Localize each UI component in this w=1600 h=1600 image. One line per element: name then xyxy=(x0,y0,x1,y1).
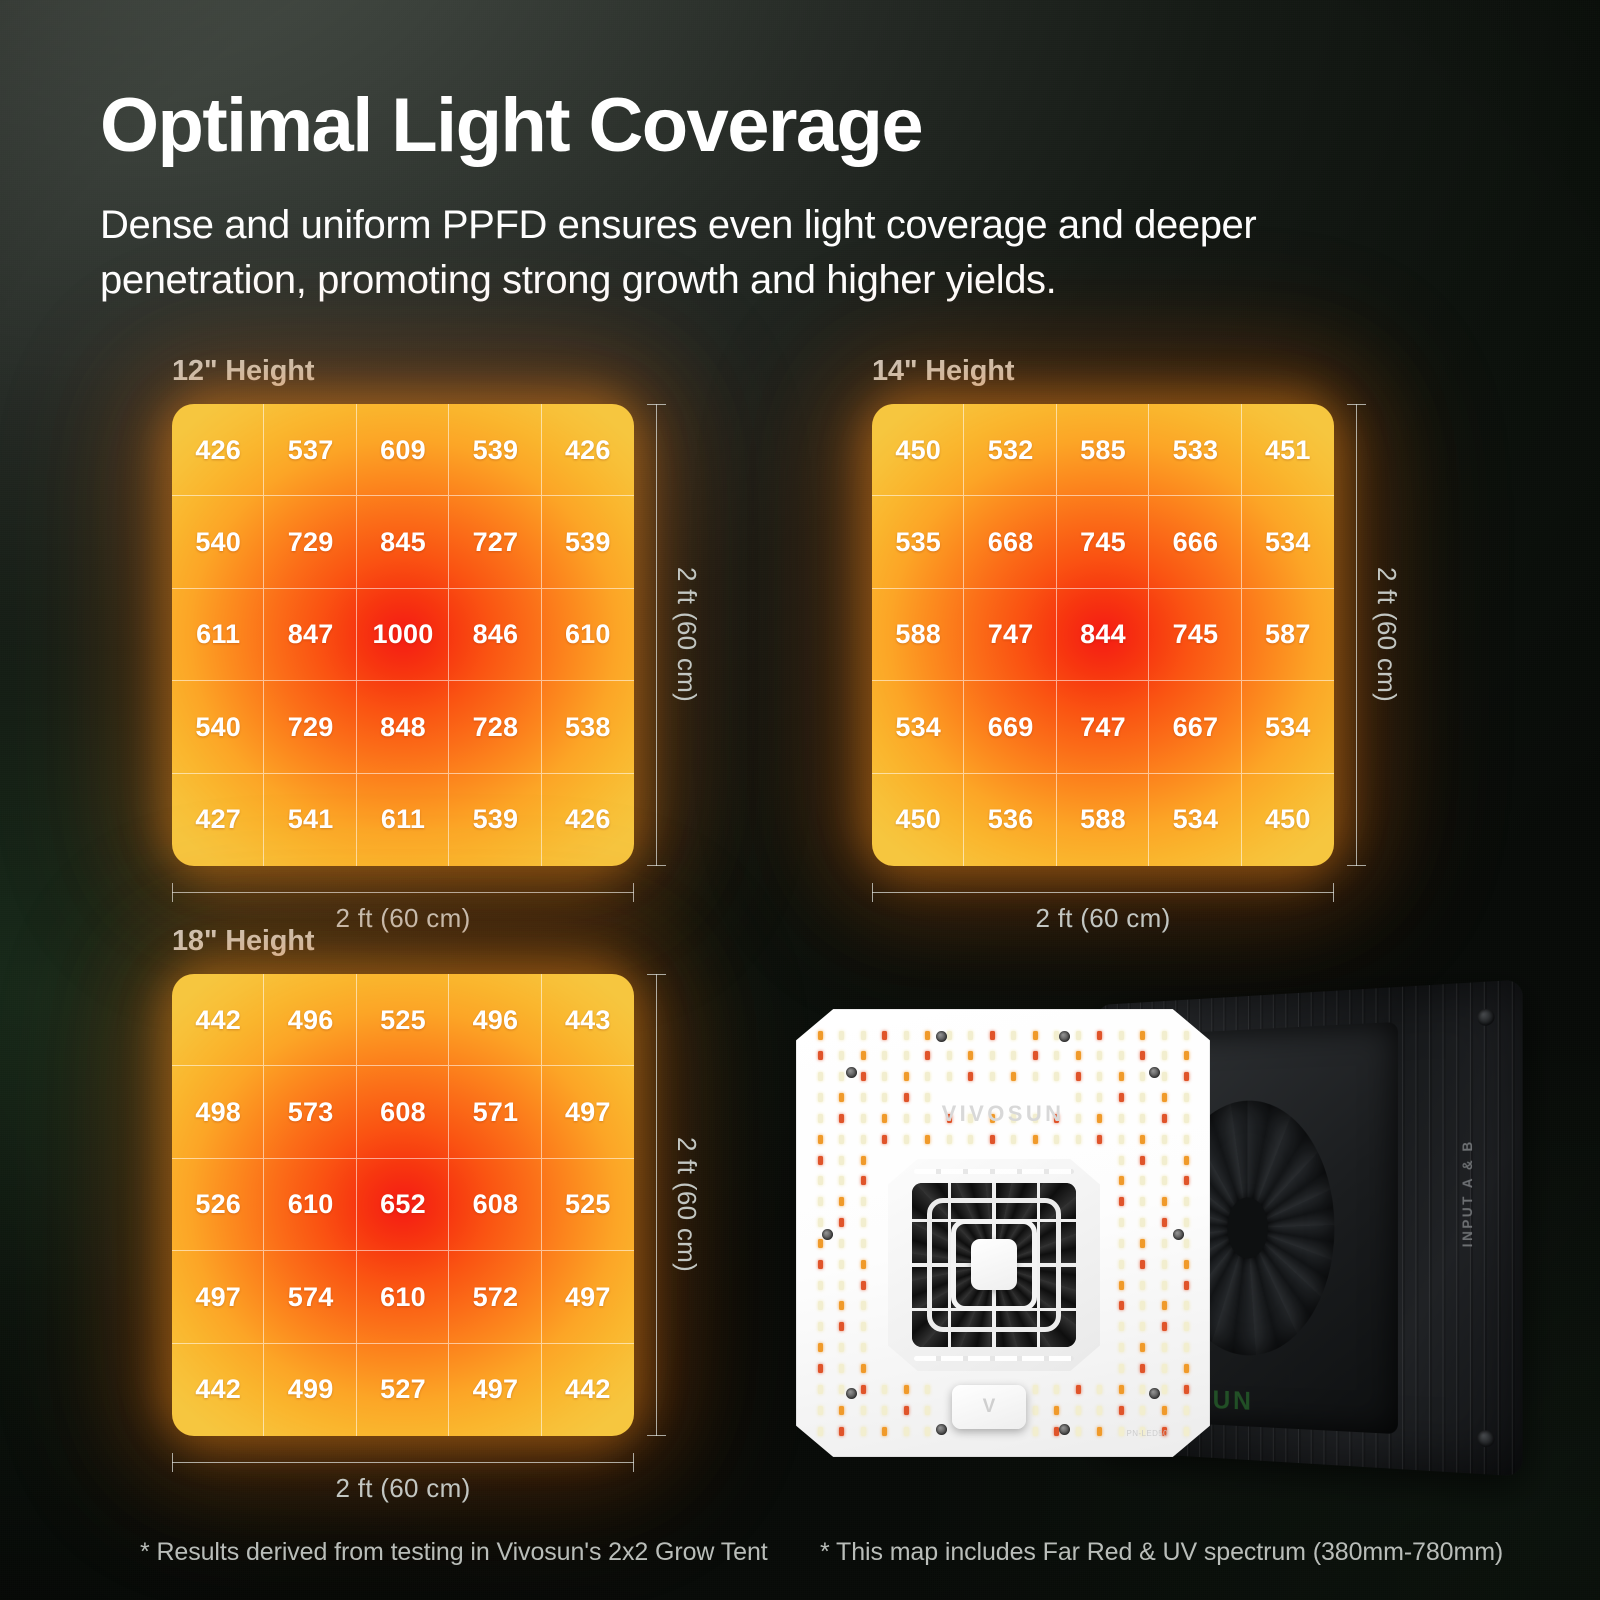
led-diode xyxy=(1033,1406,1038,1415)
heatmap-cell-value: 450 xyxy=(895,435,941,466)
led-diode xyxy=(968,1135,973,1144)
heatmap-cell: 499 xyxy=(264,1344,356,1436)
led-diode xyxy=(818,1239,823,1248)
heatmap-cell-value: 652 xyxy=(380,1189,426,1220)
led-diode xyxy=(1097,1406,1102,1415)
led-diode xyxy=(839,1197,844,1206)
dimension-horizontal-label: 2 ft (60 cm) xyxy=(172,1473,634,1504)
led-diode xyxy=(861,1260,866,1269)
dimension-vertical-label: 2 ft (60 cm) xyxy=(671,1137,702,1272)
heatmap-cell: 442 xyxy=(542,1344,634,1436)
fan-grille xyxy=(912,1183,1076,1347)
heatmap-cell-value: 427 xyxy=(195,804,241,835)
led-diode xyxy=(861,1072,866,1081)
led-diode xyxy=(818,1364,823,1373)
heatmap-cell: 533 xyxy=(1149,404,1241,496)
heatmap-cell-value: 845 xyxy=(380,527,426,558)
led-diode xyxy=(904,1072,909,1081)
led-diode xyxy=(1162,1301,1167,1310)
led-diode xyxy=(1162,1385,1167,1394)
led-diode xyxy=(839,1156,844,1165)
heatmap-cell: 426 xyxy=(542,774,634,866)
heatmap-cell: 536 xyxy=(964,774,1056,866)
heatmap-cell-value: 846 xyxy=(473,619,519,650)
led-diode xyxy=(1097,1385,1102,1394)
led-diode xyxy=(839,1406,844,1415)
heatmap-cell: 608 xyxy=(357,1066,449,1158)
heatmap-cell: 497 xyxy=(542,1251,634,1343)
heatmap-cell-value: 537 xyxy=(288,435,334,466)
led-diode xyxy=(1119,1260,1124,1269)
heatmap-cell-value: 747 xyxy=(988,619,1034,650)
led-diode xyxy=(1119,1031,1124,1040)
led-diode xyxy=(1162,1197,1167,1206)
led-diode xyxy=(1184,1176,1189,1185)
led-diode xyxy=(1140,1281,1145,1290)
led-diode xyxy=(1140,1364,1145,1373)
dimension-horizontal-label: 2 ft (60 cm) xyxy=(872,903,1334,934)
led-diode xyxy=(1184,1322,1189,1331)
dimension-vertical: 2 ft (60 cm) xyxy=(656,404,702,866)
heatmap-cell-value: 451 xyxy=(1265,435,1311,466)
heatmap-cell: 728 xyxy=(449,681,541,773)
heatmap-cell: 587 xyxy=(1242,589,1334,681)
heatmap-cell: 450 xyxy=(872,774,964,866)
led-diode xyxy=(882,1031,887,1040)
heatmap-title: 14" Height xyxy=(872,355,1334,388)
heatmap-grid: 4424965254964434985736085714975266106526… xyxy=(172,974,634,1436)
led-diode xyxy=(1033,1031,1038,1040)
heatmap-cell-value: 536 xyxy=(988,804,1034,835)
screw-icon xyxy=(1173,1229,1184,1240)
led-diode xyxy=(1119,1343,1124,1352)
heatmap-cell: 497 xyxy=(172,1251,264,1343)
heatmap-cell-value: 666 xyxy=(1173,527,1219,558)
heatmap-cell-value: 745 xyxy=(1080,527,1126,558)
dimension-rule xyxy=(656,404,657,866)
led-diode xyxy=(1140,1239,1145,1248)
heatmap-cell: 526 xyxy=(172,1159,264,1251)
led-diode xyxy=(839,1051,844,1060)
heatmap-cell: 666 xyxy=(1149,496,1241,588)
heatmap-cell: 846 xyxy=(449,589,541,681)
led-diode xyxy=(861,1364,866,1373)
heatmap-cell: 611 xyxy=(357,774,449,866)
led-diode xyxy=(925,1427,930,1436)
led-diode xyxy=(1011,1135,1016,1144)
led-diode xyxy=(1054,1072,1059,1081)
led-diode xyxy=(925,1385,930,1394)
footnote-right: * This map includes Far Red & UV spectru… xyxy=(820,1538,1503,1567)
led-diode xyxy=(861,1406,866,1415)
led-diode xyxy=(1140,1156,1145,1165)
heatmap-cell: 668 xyxy=(964,496,1056,588)
heatmap-cell: 729 xyxy=(264,681,356,773)
heatmap-cell-value: 527 xyxy=(380,1374,426,1405)
led-diode xyxy=(1119,1197,1124,1206)
led-diode xyxy=(1076,1135,1081,1144)
led-diode xyxy=(861,1343,866,1352)
fan-housing xyxy=(888,1159,1100,1371)
heatmap-cell: 652 xyxy=(357,1159,449,1251)
led-diode xyxy=(839,1260,844,1269)
led-diode xyxy=(1119,1385,1124,1394)
led-diode xyxy=(1184,1156,1189,1165)
led-diode xyxy=(861,1135,866,1144)
heatmap-panel-3: 18" Height442496525496443498573608571497… xyxy=(172,925,634,1436)
heatmap-cell-value: 442 xyxy=(565,1374,611,1405)
brand-button-chip[interactable]: V xyxy=(952,1385,1026,1429)
led-diode xyxy=(1140,1176,1145,1185)
led-diode xyxy=(947,1072,952,1081)
dimension-rule xyxy=(1356,404,1357,866)
heatmap-cell-value: 534 xyxy=(1265,712,1311,743)
led-diode xyxy=(1162,1364,1167,1373)
led-diode xyxy=(861,1301,866,1310)
page-title: Optimal Light Coverage xyxy=(100,88,1520,164)
led-diode xyxy=(1097,1072,1102,1081)
led-diode xyxy=(1076,1385,1081,1394)
led-diode xyxy=(839,1364,844,1373)
heatmap-cell-value: 587 xyxy=(1265,619,1311,650)
heatmap-cell-value: 611 xyxy=(381,804,425,835)
led-diode xyxy=(1076,1427,1081,1436)
heatmap-cell: 745 xyxy=(1057,496,1149,588)
heatmap-cell: 540 xyxy=(172,496,264,588)
led-diode xyxy=(1011,1051,1016,1060)
led-diode xyxy=(968,1072,973,1081)
led-diode xyxy=(861,1031,866,1040)
led-diode xyxy=(925,1072,930,1081)
led-diode xyxy=(1184,1301,1189,1310)
led-diode xyxy=(839,1031,844,1040)
led-diode xyxy=(818,1135,823,1144)
heatmap-cell: 525 xyxy=(542,1159,634,1251)
led-diode xyxy=(818,1260,823,1269)
product-image: INPUT A & B VIVOSUN VIVOSUN xyxy=(790,975,1520,1475)
heatmap-cell-value: 747 xyxy=(1080,712,1126,743)
led-diode xyxy=(1054,1406,1059,1415)
heatmap-cell: 610 xyxy=(264,1159,356,1251)
screw-icon xyxy=(1149,1067,1160,1078)
led-diode xyxy=(1076,1051,1081,1060)
led-diode xyxy=(1097,1031,1102,1040)
led-diode xyxy=(1184,1343,1189,1352)
heatmap-cell: 527 xyxy=(357,1344,449,1436)
heatmap-cell-value: 426 xyxy=(565,804,611,835)
led-diode xyxy=(1184,1260,1189,1269)
led-diode xyxy=(968,1031,973,1040)
heatmap-cell-value: 426 xyxy=(195,435,241,466)
dimension-vertical: 2 ft (60 cm) xyxy=(656,974,702,1436)
led-diode xyxy=(839,1281,844,1290)
screw-icon xyxy=(1059,1031,1070,1042)
heatmap-cell: 539 xyxy=(449,404,541,496)
heatmap-cell-value: 540 xyxy=(195,712,241,743)
led-diode xyxy=(1033,1427,1038,1436)
led-diode xyxy=(1076,1072,1081,1081)
led-diode xyxy=(818,1197,823,1206)
led-diode xyxy=(1011,1072,1016,1081)
heatmap-cell: 534 xyxy=(872,681,964,773)
dimension-vertical: 2 ft (60 cm) xyxy=(1356,404,1402,866)
heatmap-cell-value: 534 xyxy=(895,712,941,743)
heatmap-cell: 585 xyxy=(1057,404,1149,496)
heatmap-cell: 573 xyxy=(264,1066,356,1158)
led-diode xyxy=(839,1343,844,1352)
dimension-vertical-label: 2 ft (60 cm) xyxy=(671,567,702,702)
heatmap-cell-value: 571 xyxy=(473,1097,519,1128)
heatmap-cell-value: 667 xyxy=(1173,712,1219,743)
screw-icon xyxy=(936,1424,947,1435)
dimension-horizontal: 2 ft (60 cm) xyxy=(872,892,1334,934)
led-diode xyxy=(1119,1364,1124,1373)
led-diode xyxy=(818,1406,823,1415)
led-diode xyxy=(1033,1385,1038,1394)
led-diode xyxy=(882,1406,887,1415)
heatmap-cell-value: 450 xyxy=(1265,804,1311,835)
led-diode xyxy=(1184,1135,1189,1144)
led-diode xyxy=(1184,1406,1189,1415)
led-diode xyxy=(818,1301,823,1310)
heatmap-cell-value: 609 xyxy=(380,435,426,466)
led-diode xyxy=(839,1301,844,1310)
input-label: INPUT A & B xyxy=(1459,1139,1475,1247)
led-diode xyxy=(1119,1406,1124,1415)
heatmap-cell: 848 xyxy=(357,681,449,773)
heatmap-cell: 497 xyxy=(542,1066,634,1158)
heatmap-cell-value: 534 xyxy=(1265,527,1311,558)
heatmap-cell: 609 xyxy=(357,404,449,496)
panel-fine-print: PN-LED50 xyxy=(1127,1429,1168,1439)
heatmap-cell: 844 xyxy=(1057,589,1149,681)
screw-icon xyxy=(846,1067,857,1078)
heatmap-cell-value: 539 xyxy=(473,435,519,466)
heatmap-cell: 574 xyxy=(264,1251,356,1343)
led-diode xyxy=(882,1427,887,1436)
led-diode xyxy=(839,1427,844,1436)
led-diode xyxy=(861,1197,866,1206)
led-diode xyxy=(990,1031,995,1040)
led-diode xyxy=(839,1385,844,1394)
footnote-left: * Results derived from testing in Vivosu… xyxy=(140,1538,768,1567)
led-diode xyxy=(1162,1176,1167,1185)
led-diode xyxy=(861,1385,866,1394)
heatmap-cell-value: 669 xyxy=(988,712,1034,743)
led-diode xyxy=(882,1385,887,1394)
led-diode xyxy=(1054,1051,1059,1060)
led-diode xyxy=(1162,1239,1167,1248)
led-diode xyxy=(1097,1427,1102,1436)
heatmap-cell-value: 497 xyxy=(195,1282,241,1313)
dimension-rule xyxy=(656,974,657,1436)
led-diode xyxy=(1184,1218,1189,1227)
led-diode xyxy=(1140,1385,1145,1394)
brand-button-glyph: V xyxy=(983,1396,996,1418)
led-diode xyxy=(1140,1197,1145,1206)
led-diode xyxy=(1140,1322,1145,1331)
led-diode xyxy=(1162,1406,1167,1415)
heatmap-cell-value: 525 xyxy=(380,1005,426,1036)
heatmap-panel-1: 12" Height426537609539426540729845727539… xyxy=(172,355,634,866)
heatmap-cell: 747 xyxy=(1057,681,1149,773)
heatmap-cell-value: 539 xyxy=(473,804,519,835)
heatmap-cell-value: 729 xyxy=(288,712,334,743)
heatmap-cell: 541 xyxy=(264,774,356,866)
led-diode xyxy=(947,1135,952,1144)
led-diode xyxy=(925,1406,930,1415)
heatmap-cell: 498 xyxy=(172,1066,264,1158)
dimension-rule xyxy=(872,892,1334,893)
led-diode xyxy=(925,1031,930,1040)
heatmap-cell: 451 xyxy=(1242,404,1334,496)
led-diode xyxy=(818,1072,823,1081)
led-diode xyxy=(1140,1051,1145,1060)
led-diode xyxy=(1033,1135,1038,1144)
vent-slot xyxy=(914,1356,1074,1361)
heatmap-cell: 535 xyxy=(872,496,964,588)
header: Optimal Light Coverage Dense and uniform… xyxy=(100,88,1520,308)
led-diode xyxy=(839,1239,844,1248)
led-diode xyxy=(1184,1427,1189,1436)
heatmap-cell: 539 xyxy=(449,774,541,866)
led-diode xyxy=(839,1072,844,1081)
led-diode xyxy=(1140,1135,1145,1144)
heatmap-cell-value: 496 xyxy=(473,1005,519,1036)
led-diode xyxy=(1184,1385,1189,1394)
led-diode xyxy=(1184,1197,1189,1206)
led-diode xyxy=(861,1239,866,1248)
heatmap-cell-value: 574 xyxy=(288,1282,334,1313)
heatmap-cell: 442 xyxy=(172,1344,264,1436)
led-diode xyxy=(818,1385,823,1394)
led-diode xyxy=(1119,1427,1124,1436)
led-diode xyxy=(1184,1364,1189,1373)
heatmap-cell-value: 442 xyxy=(195,1005,241,1036)
heatmap-cell-value: 526 xyxy=(195,1189,241,1220)
heatmap-title: 12" Height xyxy=(172,355,634,388)
heatmap-grid: 4265376095394265407298457275396118471000… xyxy=(172,404,634,866)
led-diode xyxy=(1162,1135,1167,1144)
screw-icon xyxy=(936,1031,947,1042)
heatmap-cell: 729 xyxy=(264,496,356,588)
led-diode xyxy=(1119,1322,1124,1331)
heatmap-cell-value: 1000 xyxy=(373,619,434,650)
heatmap-cell: 588 xyxy=(872,589,964,681)
led-diode xyxy=(861,1427,866,1436)
heatmap-cell: 443 xyxy=(542,974,634,1066)
screw-icon xyxy=(846,1388,857,1399)
led-diode xyxy=(1076,1031,1081,1040)
led-diode xyxy=(1054,1385,1059,1394)
heatmap-cell-value: 588 xyxy=(1080,804,1126,835)
led-diode xyxy=(1119,1135,1124,1144)
led-diode xyxy=(1162,1343,1167,1352)
led-diode xyxy=(882,1135,887,1144)
led-diode xyxy=(861,1322,866,1331)
led-panel-front: VIVOSUN V xyxy=(796,1009,1210,1457)
heatmap-cell-value: 535 xyxy=(895,527,941,558)
dimension-rule xyxy=(172,892,634,893)
led-diode xyxy=(861,1176,866,1185)
led-diode xyxy=(1162,1322,1167,1331)
heatmap-cell-value: 848 xyxy=(380,712,426,743)
led-diode xyxy=(1140,1072,1145,1081)
heatmap-cell: 845 xyxy=(357,496,449,588)
led-diode xyxy=(861,1281,866,1290)
heatmap-cell-value: 847 xyxy=(288,619,334,650)
led-diode xyxy=(1184,1281,1189,1290)
led-diode xyxy=(839,1218,844,1227)
heatmap-cell-value: 668 xyxy=(988,527,1034,558)
heatmap-panel-2: 14" Height450532585533451535668745666534… xyxy=(872,355,1334,866)
led-diode xyxy=(861,1051,866,1060)
heatmap-cell: 426 xyxy=(172,404,264,496)
heatmap-cell: 608 xyxy=(449,1159,541,1251)
heatmap-cell: 540 xyxy=(172,681,264,773)
led-diode xyxy=(818,1322,823,1331)
led-diode xyxy=(861,1156,866,1165)
dimension-vertical-label: 2 ft (60 cm) xyxy=(1371,567,1402,702)
led-diode xyxy=(861,1218,866,1227)
heatmap-cell: 669 xyxy=(964,681,1056,773)
led-diode xyxy=(1162,1281,1167,1290)
panel-brand-logo: VIVOSUN xyxy=(796,1101,1210,1127)
led-diode xyxy=(1140,1406,1145,1415)
led-diode xyxy=(947,1031,952,1040)
led-diode xyxy=(1184,1031,1189,1040)
heatmap-cell: 610 xyxy=(357,1251,449,1343)
heatmap-cell: 532 xyxy=(964,404,1056,496)
led-diode xyxy=(1184,1072,1189,1081)
heatmap-cell-value: 572 xyxy=(473,1282,519,1313)
led-diode xyxy=(1184,1051,1189,1060)
led-diode xyxy=(1140,1301,1145,1310)
led-diode xyxy=(839,1322,844,1331)
heatmap-cell-value: 610 xyxy=(380,1282,426,1313)
heatmap-cell-value: 610 xyxy=(565,619,611,650)
heatmap-cell-value: 610 xyxy=(288,1189,334,1220)
heatmap-cell-value: 541 xyxy=(288,804,334,835)
led-diode xyxy=(968,1051,973,1060)
led-diode xyxy=(1140,1031,1145,1040)
heatmap-cell-value: 533 xyxy=(1173,435,1219,466)
led-diode xyxy=(1184,1239,1189,1248)
led-diode xyxy=(904,1051,909,1060)
led-diode xyxy=(1119,1301,1124,1310)
led-diode xyxy=(1119,1239,1124,1248)
heatmap-cell-value: 525 xyxy=(565,1189,611,1220)
vent-slot xyxy=(914,1169,1074,1174)
led-diode xyxy=(1033,1072,1038,1081)
heatmap-cell: 571 xyxy=(449,1066,541,1158)
heatmap-cell: 525 xyxy=(357,974,449,1066)
screw-icon xyxy=(1477,1430,1494,1448)
heatmap-cell-value: 844 xyxy=(1080,619,1126,650)
heatmap-cell-value: 443 xyxy=(565,1005,611,1036)
heatmap-cell-value: 538 xyxy=(565,712,611,743)
led-diode xyxy=(818,1218,823,1227)
led-diode xyxy=(818,1156,823,1165)
heatmap-cell: 427 xyxy=(172,774,264,866)
heatmap-cell-value: 497 xyxy=(565,1097,611,1128)
heatmap-cell: 538 xyxy=(542,681,634,773)
heatmap-cell: 611 xyxy=(172,589,264,681)
heatmap-cell: 450 xyxy=(872,404,964,496)
heatmap-cell: 537 xyxy=(264,404,356,496)
heatmap-cell-value: 497 xyxy=(473,1374,519,1405)
screw-icon xyxy=(1149,1388,1160,1399)
